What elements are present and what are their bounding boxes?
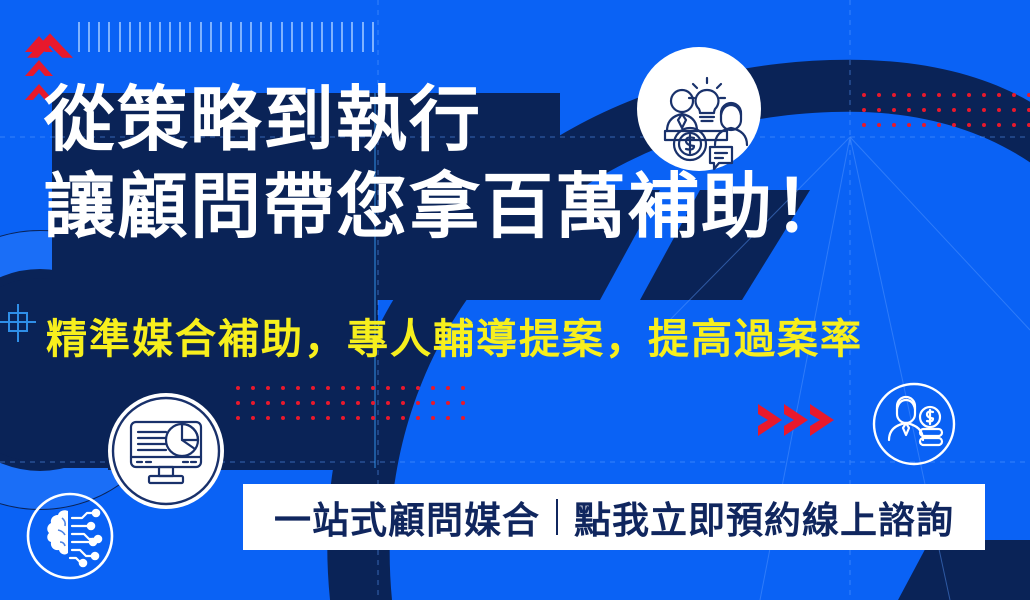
subtitle: 精準媒合補助，專人輔導提案，提高過案率 — [46, 305, 863, 365]
vertical-bar-row — [78, 22, 374, 52]
cta-button[interactable]: 一站式顧問媒合 點我立即預約線上諮詢 — [243, 484, 985, 550]
chevron-right-arrows — [758, 400, 836, 445]
headline-line-2: 讓顧問帶您拿百萬補助！ — [44, 171, 847, 246]
cta-right-label: 點我立即預約線上諮詢 — [574, 490, 954, 544]
team-lightbulb-icon — [637, 47, 761, 171]
consultant-money-icon — [864, 374, 964, 474]
brain-circuit-icon — [18, 484, 122, 588]
red-dot-grid-top-right — [862, 93, 1030, 138]
red-dot-grid-middle-left — [236, 386, 476, 431]
promo-banner: 從策略到執行 讓顧問帶您拿百萬補助！ 精準媒合補助，專人輔導提案，提高過案率 一… — [0, 0, 1030, 600]
cta-text: 一站式顧問媒合 點我立即預約線上諮詢 — [274, 490, 954, 544]
monitor-chart-icon — [105, 390, 227, 512]
cta-left-label: 一站式顧問媒合 — [274, 490, 540, 544]
cta-separator — [556, 499, 558, 535]
